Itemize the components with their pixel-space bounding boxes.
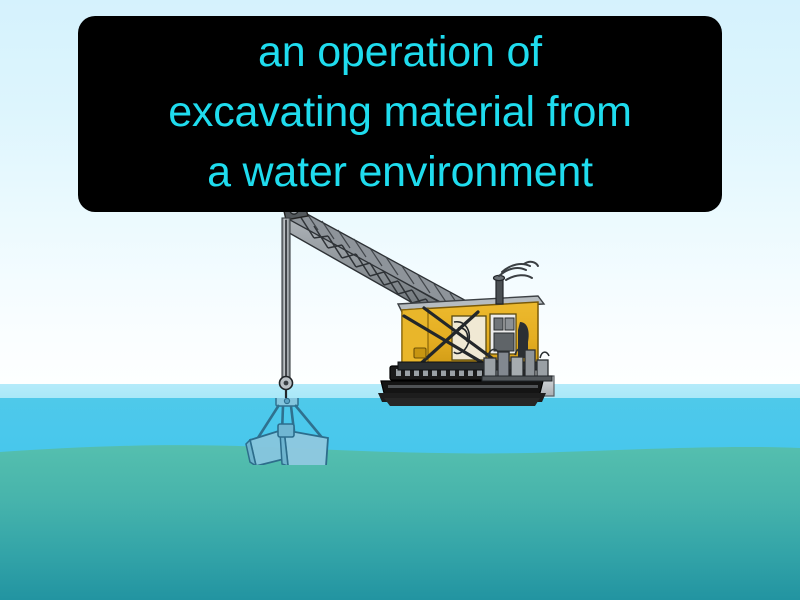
dredger-crane-illustration [238, 200, 568, 465]
mast-and-hoist-group [280, 218, 293, 400]
definition-text: an operation of excavating material from… [168, 22, 632, 202]
clamshell-bucket-group [246, 396, 328, 465]
definition-card-scene: an operation of excavating material from… [0, 0, 800, 600]
definition-card: an operation of excavating material from… [78, 16, 722, 212]
